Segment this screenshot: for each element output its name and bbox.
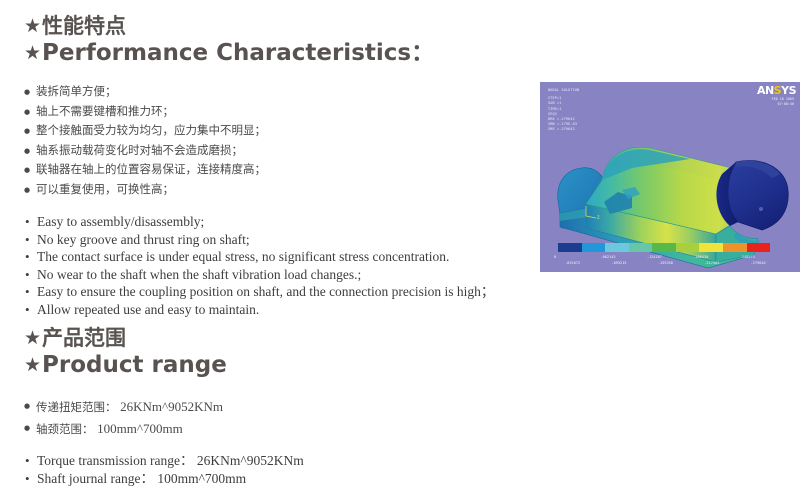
list-item: Easy to assembly/disassembly; — [24, 213, 494, 231]
performance-heading-group: ★性能特点 ★Performance Characteristics： — [24, 14, 494, 68]
list-item: 轴颈范围： 100mm^700mm — [24, 418, 494, 440]
product-range-list-cn: 传递扭矩范围： 26KNm^9052KNm 轴颈范围： 100mm^700mm — [24, 396, 494, 440]
colorbar-tick: .031072 — [565, 261, 611, 265]
star-icon: ★ — [24, 42, 41, 64]
colorbar-band — [605, 243, 629, 252]
colorbar-tick: .062143 — [600, 255, 646, 259]
performance-bullets-en: Easy to assembly/disassembly; No key gro… — [24, 213, 494, 318]
page-root: ★性能特点 ★Performance Characteristics： 装拆简单… — [0, 0, 811, 477]
list-item: 轴系振动载荷变化时对轴不会造成磨损； — [24, 141, 494, 161]
ansys-meta-lines: STEP=1 SUB =1 TIME=1 SEQV DMX =.279642 S… — [548, 96, 579, 132]
ansys-logo: ANSYS — [757, 85, 796, 97]
product-range-list-en: Torque transmission range： 26KNm^9052KNm… — [24, 452, 494, 488]
list-item: 联轴器在轴上的位置容易保证，连接精度高； — [24, 160, 494, 180]
ansys-header-text: NODAL SOLUTION — [548, 88, 579, 92]
product-range-heading-cn: ★产品范围 — [24, 326, 494, 351]
colorbar-band — [676, 243, 700, 252]
list-item: 传递扭矩范围： 26KNm^9052KNm — [24, 396, 494, 418]
product-range-heading-en: ★Product range — [24, 351, 494, 380]
colorbar-band — [582, 243, 606, 252]
colorbar-labels-lower: .031072 .093215 .155358 .217502 .279642 — [554, 261, 797, 265]
performance-heading-cn: ★性能特点 — [24, 14, 494, 39]
product-range-heading-en-text: Product range — [42, 352, 227, 378]
colorbar-tick: .279642 — [751, 261, 797, 265]
performance-section: ★性能特点 ★Performance Characteristics： 装拆简单… — [24, 14, 494, 318]
product-range-heading-group: ★产品范围 ★Product range — [24, 326, 494, 380]
range-label: 轴颈范围： — [36, 422, 94, 436]
performance-bullets-cn: 装拆简单方便； 轴上不需要键槽和推力环； 整个接触面受力较为均匀，应力集中不明显… — [24, 82, 494, 199]
performance-heading-en-text: Performance Characteristics： — [42, 40, 434, 66]
star-icon: ★ — [24, 327, 41, 349]
ansys-simulation-figure: NODAL SOLUTIONSTEP=1 SUB =1 TIME=1 SEQV … — [540, 82, 800, 272]
svg-text:Z: Z — [597, 215, 600, 220]
star-icon: ★ — [24, 354, 41, 376]
product-range-section: ★产品范围 ★Product range 传递扭矩范围： 26KNm^9052K… — [24, 326, 494, 488]
list-item: The contact surface is under equal stres… — [24, 248, 494, 266]
colorbar-tick: .093215 — [611, 261, 657, 265]
colorbar-tick: .186430 — [693, 255, 739, 259]
stress-colorbar — [558, 243, 770, 252]
colorbar-band — [629, 243, 653, 252]
list-item: 轴上不需要键槽和推力环； — [24, 102, 494, 122]
range-value: 26KNm^9052KNm — [120, 399, 223, 414]
star-icon: ★ — [24, 15, 41, 37]
product-range-heading-cn-text: 产品范围 — [42, 326, 126, 350]
list-item: Allow repeated use and easy to maintain. — [24, 301, 494, 319]
colorbar-band — [652, 243, 676, 252]
list-item: 装拆简单方便； — [24, 82, 494, 102]
list-item: Shaft journal range： 100mm^700mm — [24, 470, 494, 488]
list-item: Torque transmission range： 26KNm^9052KNm — [24, 452, 494, 470]
list-item: 整个接触面受力较为均匀，应力集中不明显； — [24, 121, 494, 141]
ansys-logo-part1: AN — [757, 84, 774, 97]
list-item: Easy to ensure the coupling position on … — [24, 283, 494, 301]
colorbar-tick: .155358 — [658, 261, 704, 265]
colorbar-band — [699, 243, 723, 252]
range-value: 100mm^700mm — [97, 421, 183, 436]
colorbar-tick: .124287 — [647, 255, 693, 259]
performance-heading-cn-text: 性能特点 — [42, 14, 126, 38]
colorbar-tick: 0 — [554, 255, 600, 259]
colorbar-tick: .217502 — [704, 261, 750, 265]
colorbar-band — [723, 243, 747, 252]
ansys-solution-meta: NODAL SOLUTIONSTEP=1 SUB =1 TIME=1 SEQV … — [548, 88, 579, 133]
ansys-logo-part2: S — [774, 84, 781, 97]
colorbar-band — [747, 243, 771, 252]
ansys-date-stamp: FEB 18 2009 07:08:46 — [772, 97, 794, 107]
ansys-logo-part3: YS — [781, 84, 796, 97]
colorbar-tick: .248573 — [740, 255, 786, 259]
list-item: No wear to the shaft when the shaft vibr… — [24, 266, 494, 284]
list-item: No key groove and thrust ring on shaft; — [24, 231, 494, 249]
colorbar-labels-upper: 0 .062143 .124287 .186430 .248573 — [554, 255, 786, 259]
coordinate-triad-icon: Z — [582, 202, 604, 220]
range-label: 传递扭矩范围： — [36, 400, 117, 414]
colorbar-band — [558, 243, 582, 252]
list-item: 可以重复使用，可换性高； — [24, 180, 494, 200]
performance-heading-en: ★Performance Characteristics： — [24, 39, 494, 68]
